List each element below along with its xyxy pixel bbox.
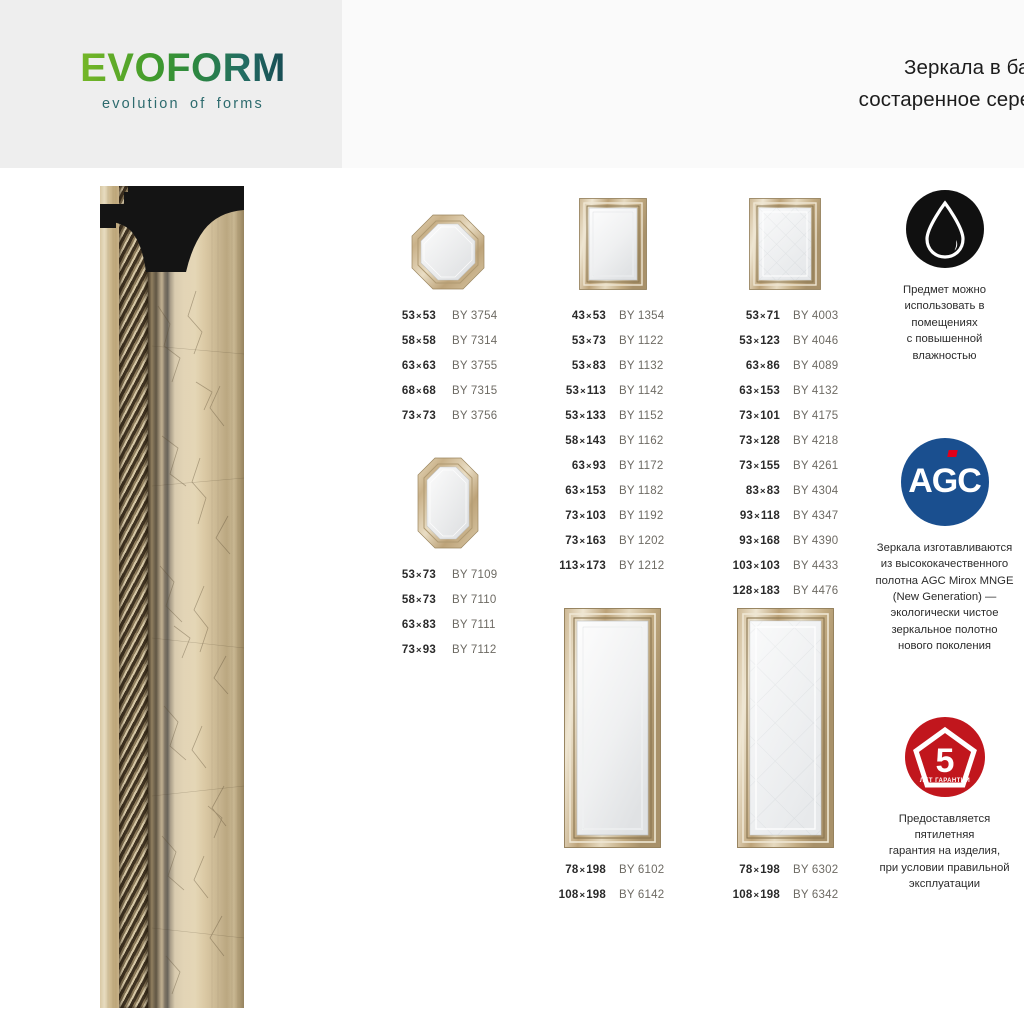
- diamond-pattern-mirror-icon: [749, 198, 821, 290]
- size-dimension: 73×155: [710, 454, 780, 479]
- size-row: 103×103BY 4433: [710, 554, 860, 579]
- badge-agc-glass: AGC Зеркала изготавливаются из высококач…: [865, 438, 1024, 655]
- size-row: 53×123BY 4046: [710, 329, 860, 354]
- size-dimension: 63×86: [710, 354, 780, 379]
- size-dimension: 63×93: [540, 454, 606, 479]
- badge-agc-text: Зеркала изготавливаются из высококачеств…: [865, 540, 1024, 655]
- product-group-octagon-tall: 53×73BY 7109 58×73BY 7110 63×83BY 7111 7…: [380, 445, 515, 663]
- size-row: 63×153BY 4132: [710, 379, 860, 404]
- size-dimension: 108×198: [710, 883, 780, 908]
- size-code: BY 4003: [793, 304, 838, 329]
- size-row: 108×198BY 6342: [710, 883, 860, 908]
- size-code: BY 7112: [452, 638, 496, 663]
- size-code: BY 4261: [793, 454, 838, 479]
- size-code: BY 4089: [793, 354, 838, 379]
- size-code: BY 1172: [619, 454, 663, 479]
- size-list-octagon-regular: 53×53BY 3754 58×58BY 7314 63×63BY 3755 6…: [380, 304, 515, 429]
- size-dimension: 53×71: [710, 304, 780, 329]
- brand-logo-tagline: evolution of forms: [68, 96, 298, 112]
- size-code: BY 1152: [619, 404, 663, 429]
- size-dimension: 78×198: [540, 858, 606, 883]
- size-dimension: 53×133: [540, 404, 606, 429]
- octagon-tall-mirror-icon: [417, 457, 479, 549]
- size-row: 83×83BY 4304: [710, 479, 860, 504]
- size-code: BY 6142: [619, 883, 664, 908]
- size-code: BY 3755: [452, 354, 497, 379]
- size-list-rect-tall-diamond: 78×198BY 6302 108×198BY 6342: [710, 858, 860, 908]
- size-dimension: 73×128: [710, 429, 780, 454]
- size-row: 73×128BY 4218: [710, 429, 860, 454]
- badge-warranty-text: Предоставляется пятилетняя гарантия на и…: [865, 811, 1024, 893]
- size-row: 78×198BY 6102: [540, 858, 685, 883]
- size-row: 53×83BY 1132: [540, 354, 685, 379]
- size-row: 73×73BY 3756: [380, 404, 515, 429]
- mirror-preview-rect-tall-plain: [540, 598, 685, 848]
- mirror-preview-rect-tall-diamond: [710, 598, 860, 848]
- mirror-preview-octagon-tall: [380, 445, 515, 549]
- catalog-page: EVOFORM evolution of forms Зеркала в баг…: [0, 0, 1024, 1024]
- frame-profile-sample: [100, 186, 244, 1008]
- size-dimension: 78×198: [710, 858, 780, 883]
- size-code: BY 6342: [793, 883, 838, 908]
- size-row: 58×143BY 1162: [540, 429, 685, 454]
- size-code: BY 1354: [619, 304, 664, 329]
- size-row: 53×53BY 3754: [380, 304, 515, 329]
- size-dimension: 53×73: [380, 563, 436, 588]
- size-dimension: 93×168: [710, 529, 780, 554]
- badge-moisture-resistant: Предмет можно использовать в помещениях …: [865, 190, 1024, 364]
- size-dimension: 53×53: [380, 304, 436, 329]
- size-dimension: 73×73: [380, 404, 436, 429]
- size-row: 78×198BY 6302: [710, 858, 860, 883]
- size-row: 93×168BY 4390: [710, 529, 860, 554]
- agc-logo-accent: [947, 450, 957, 457]
- badge-warranty: 5 ЛЕТ ГАРАНТИИ Предоставляется пятилетня…: [865, 717, 1024, 893]
- product-group-rect-diamond: 53×71BY 4003 53×123BY 4046 63×86BY 4089 …: [710, 186, 860, 604]
- feature-badges: Предмет можно использовать в помещениях …: [865, 190, 1024, 892]
- size-row: 58×73BY 7110: [380, 588, 515, 613]
- frame-profile-silhouette-icon: [100, 186, 244, 272]
- size-code: BY 7315: [452, 379, 497, 404]
- size-row: 73×93BY 7112: [380, 638, 515, 663]
- size-code: BY 1192: [619, 504, 663, 529]
- size-row: 73×163BY 1202: [540, 529, 685, 554]
- size-dimension: 108×198: [540, 883, 606, 908]
- size-dimension: 53×123: [710, 329, 780, 354]
- brand-logo: EVOFORM evolution of forms: [68, 48, 298, 112]
- mirror-preview-octagon-regular: [380, 186, 515, 290]
- size-row: 73×155BY 4261: [710, 454, 860, 479]
- size-dimension: 63×63: [380, 354, 436, 379]
- size-row: 53×73BY 7109: [380, 563, 515, 588]
- size-code: BY 1202: [619, 529, 664, 554]
- size-code: BY 4046: [793, 329, 838, 354]
- size-code: BY 4132: [793, 379, 838, 404]
- product-group-octagon-regular: 53×53BY 3754 58×58BY 7314 63×63BY 3755 6…: [380, 186, 515, 429]
- size-row: 73×101BY 4175: [710, 404, 860, 429]
- mirror-preview-rect-diamond: [710, 186, 860, 290]
- size-dimension: 53×73: [540, 329, 606, 354]
- size-row: 108×198BY 6142: [540, 883, 685, 908]
- size-code: BY 3754: [452, 304, 497, 329]
- warranty-pentagon-glyph: 5 ЛЕТ ГАРАНТИИ: [905, 717, 985, 797]
- size-code: BY 7109: [452, 563, 497, 588]
- size-code: BY 1162: [619, 429, 663, 454]
- svg-text:5: 5: [935, 742, 954, 780]
- size-code: BY 1122: [619, 329, 663, 354]
- size-list-rect-diamond: 53×71BY 4003 53×123BY 4046 63×86BY 4089 …: [710, 304, 860, 604]
- size-code: BY 4175: [793, 404, 838, 429]
- size-code: BY 4433: [793, 554, 838, 579]
- size-code: BY 4347: [793, 504, 838, 529]
- page-title-line-2: состаренное серебро с плетением: [684, 84, 1024, 116]
- size-code: BY 6302: [793, 858, 838, 883]
- size-dimension: 83×83: [710, 479, 780, 504]
- page-title-line-1: Зеркала в багетной раме: [684, 52, 1024, 84]
- size-row: 63×63BY 3755: [380, 354, 515, 379]
- size-dimension: 93×118: [710, 504, 780, 529]
- badge-moisture-text: Предмет можно использовать в помещениях …: [865, 282, 1024, 364]
- size-dimension: 58×73: [380, 588, 436, 613]
- size-code: BY 7111: [452, 613, 496, 638]
- frame-sample-crackle-texture: [100, 186, 244, 1008]
- svg-text:ЛЕТ ГАРАНТИИ: ЛЕТ ГАРАНТИИ: [919, 778, 969, 784]
- size-row: 93×118BY 4347: [710, 504, 860, 529]
- size-code: BY 1142: [619, 379, 663, 404]
- size-row: 63×83BY 7111: [380, 613, 515, 638]
- size-dimension: 73×163: [540, 529, 606, 554]
- mirror-preview-rect-plain: [540, 186, 685, 290]
- size-row: 63×93BY 1172: [540, 454, 685, 479]
- product-column-1: 53×53BY 3754 58×58BY 7314 63×63BY 3755 6…: [380, 186, 515, 669]
- water-drop-glyph: [906, 190, 984, 268]
- size-dimension: 53×83: [540, 354, 606, 379]
- size-code: BY 4304: [793, 479, 838, 504]
- header-title-panel: Зеркала в багетной раме состаренное сере…: [342, 0, 1024, 168]
- size-dimension: 73×101: [710, 404, 780, 429]
- size-row: 113×173BY 1212: [540, 554, 685, 579]
- size-row: 43×53BY 1354: [540, 304, 685, 329]
- size-list-rect-plain: 43×53BY 1354 53×73BY 1122 53×83BY 1132 5…: [540, 304, 685, 579]
- size-list-rect-tall-plain: 78×198BY 6102 108×198BY 6142: [540, 858, 685, 908]
- warranty-5-years-icon: 5 ЛЕТ ГАРАНТИИ: [905, 717, 985, 797]
- size-code: BY 7314: [452, 329, 497, 354]
- size-dimension: 73×93: [380, 638, 436, 663]
- size-row: 53×73BY 1122: [540, 329, 685, 354]
- rectangular-mirror-icon: [579, 198, 647, 290]
- water-drop-icon: [906, 190, 984, 268]
- tall-rectangular-mirror-icon: [564, 608, 661, 848]
- size-row: 63×153BY 1182: [540, 479, 685, 504]
- size-code: BY 1132: [619, 354, 663, 379]
- size-row: 68×68BY 7315: [380, 379, 515, 404]
- size-row: 58×58BY 7314: [380, 329, 515, 354]
- size-row: 63×86BY 4089: [710, 354, 860, 379]
- page-header: EVOFORM evolution of forms Зеркала в баг…: [0, 0, 1024, 168]
- size-code: BY 6102: [619, 858, 664, 883]
- size-dimension: 63×83: [380, 613, 436, 638]
- product-group-rect-plain: 43×53BY 1354 53×73BY 1122 53×83BY 1132 5…: [540, 186, 685, 579]
- product-column-2: 43×53BY 1354 53×73BY 1122 53×83BY 1132 5…: [540, 186, 685, 585]
- product-group-rect-tall-diamond: 78×198BY 6302 108×198BY 6342: [710, 598, 860, 908]
- size-dimension: 58×143: [540, 429, 606, 454]
- brand-logo-wordmark: EVOFORM: [68, 48, 298, 88]
- agc-logo-icon: AGC: [901, 438, 989, 526]
- size-dimension: 113×173: [540, 554, 606, 579]
- size-code: BY 4218: [793, 429, 838, 454]
- size-dimension: 43×53: [540, 304, 606, 329]
- size-code: BY 7110: [452, 588, 496, 613]
- size-code: BY 3756: [452, 404, 497, 429]
- size-code: BY 1182: [619, 479, 663, 504]
- size-code: BY 1212: [619, 554, 664, 579]
- size-row: 53×133BY 1152: [540, 404, 685, 429]
- header-logo-panel: EVOFORM evolution of forms: [0, 0, 342, 168]
- tall-diamond-mirror-icon: [737, 608, 834, 848]
- size-dimension: 53×113: [540, 379, 606, 404]
- product-column-3: 53×71BY 4003 53×123BY 4046 63×86BY 4089 …: [710, 186, 860, 610]
- page-title: Зеркала в багетной раме состаренное сере…: [684, 52, 1024, 116]
- size-dimension: 63×153: [540, 479, 606, 504]
- size-dimension: 73×103: [540, 504, 606, 529]
- size-dimension: 103×103: [710, 554, 780, 579]
- product-group-rect-tall-plain: 78×198BY 6102 108×198BY 6142: [540, 598, 685, 908]
- agc-logo-label: AGC: [908, 462, 981, 501]
- size-dimension: 58×58: [380, 329, 436, 354]
- size-dimension: 68×68: [380, 379, 436, 404]
- size-row: 53×113BY 1142: [540, 379, 685, 404]
- size-row: 73×103BY 1192: [540, 504, 685, 529]
- size-code: BY 4390: [793, 529, 838, 554]
- size-list-octagon-tall: 53×73BY 7109 58×73BY 7110 63×83BY 7111 7…: [380, 563, 515, 663]
- octagon-mirror-icon: [411, 214, 485, 290]
- size-row: 53×71BY 4003: [710, 304, 860, 329]
- size-dimension: 63×153: [710, 379, 780, 404]
